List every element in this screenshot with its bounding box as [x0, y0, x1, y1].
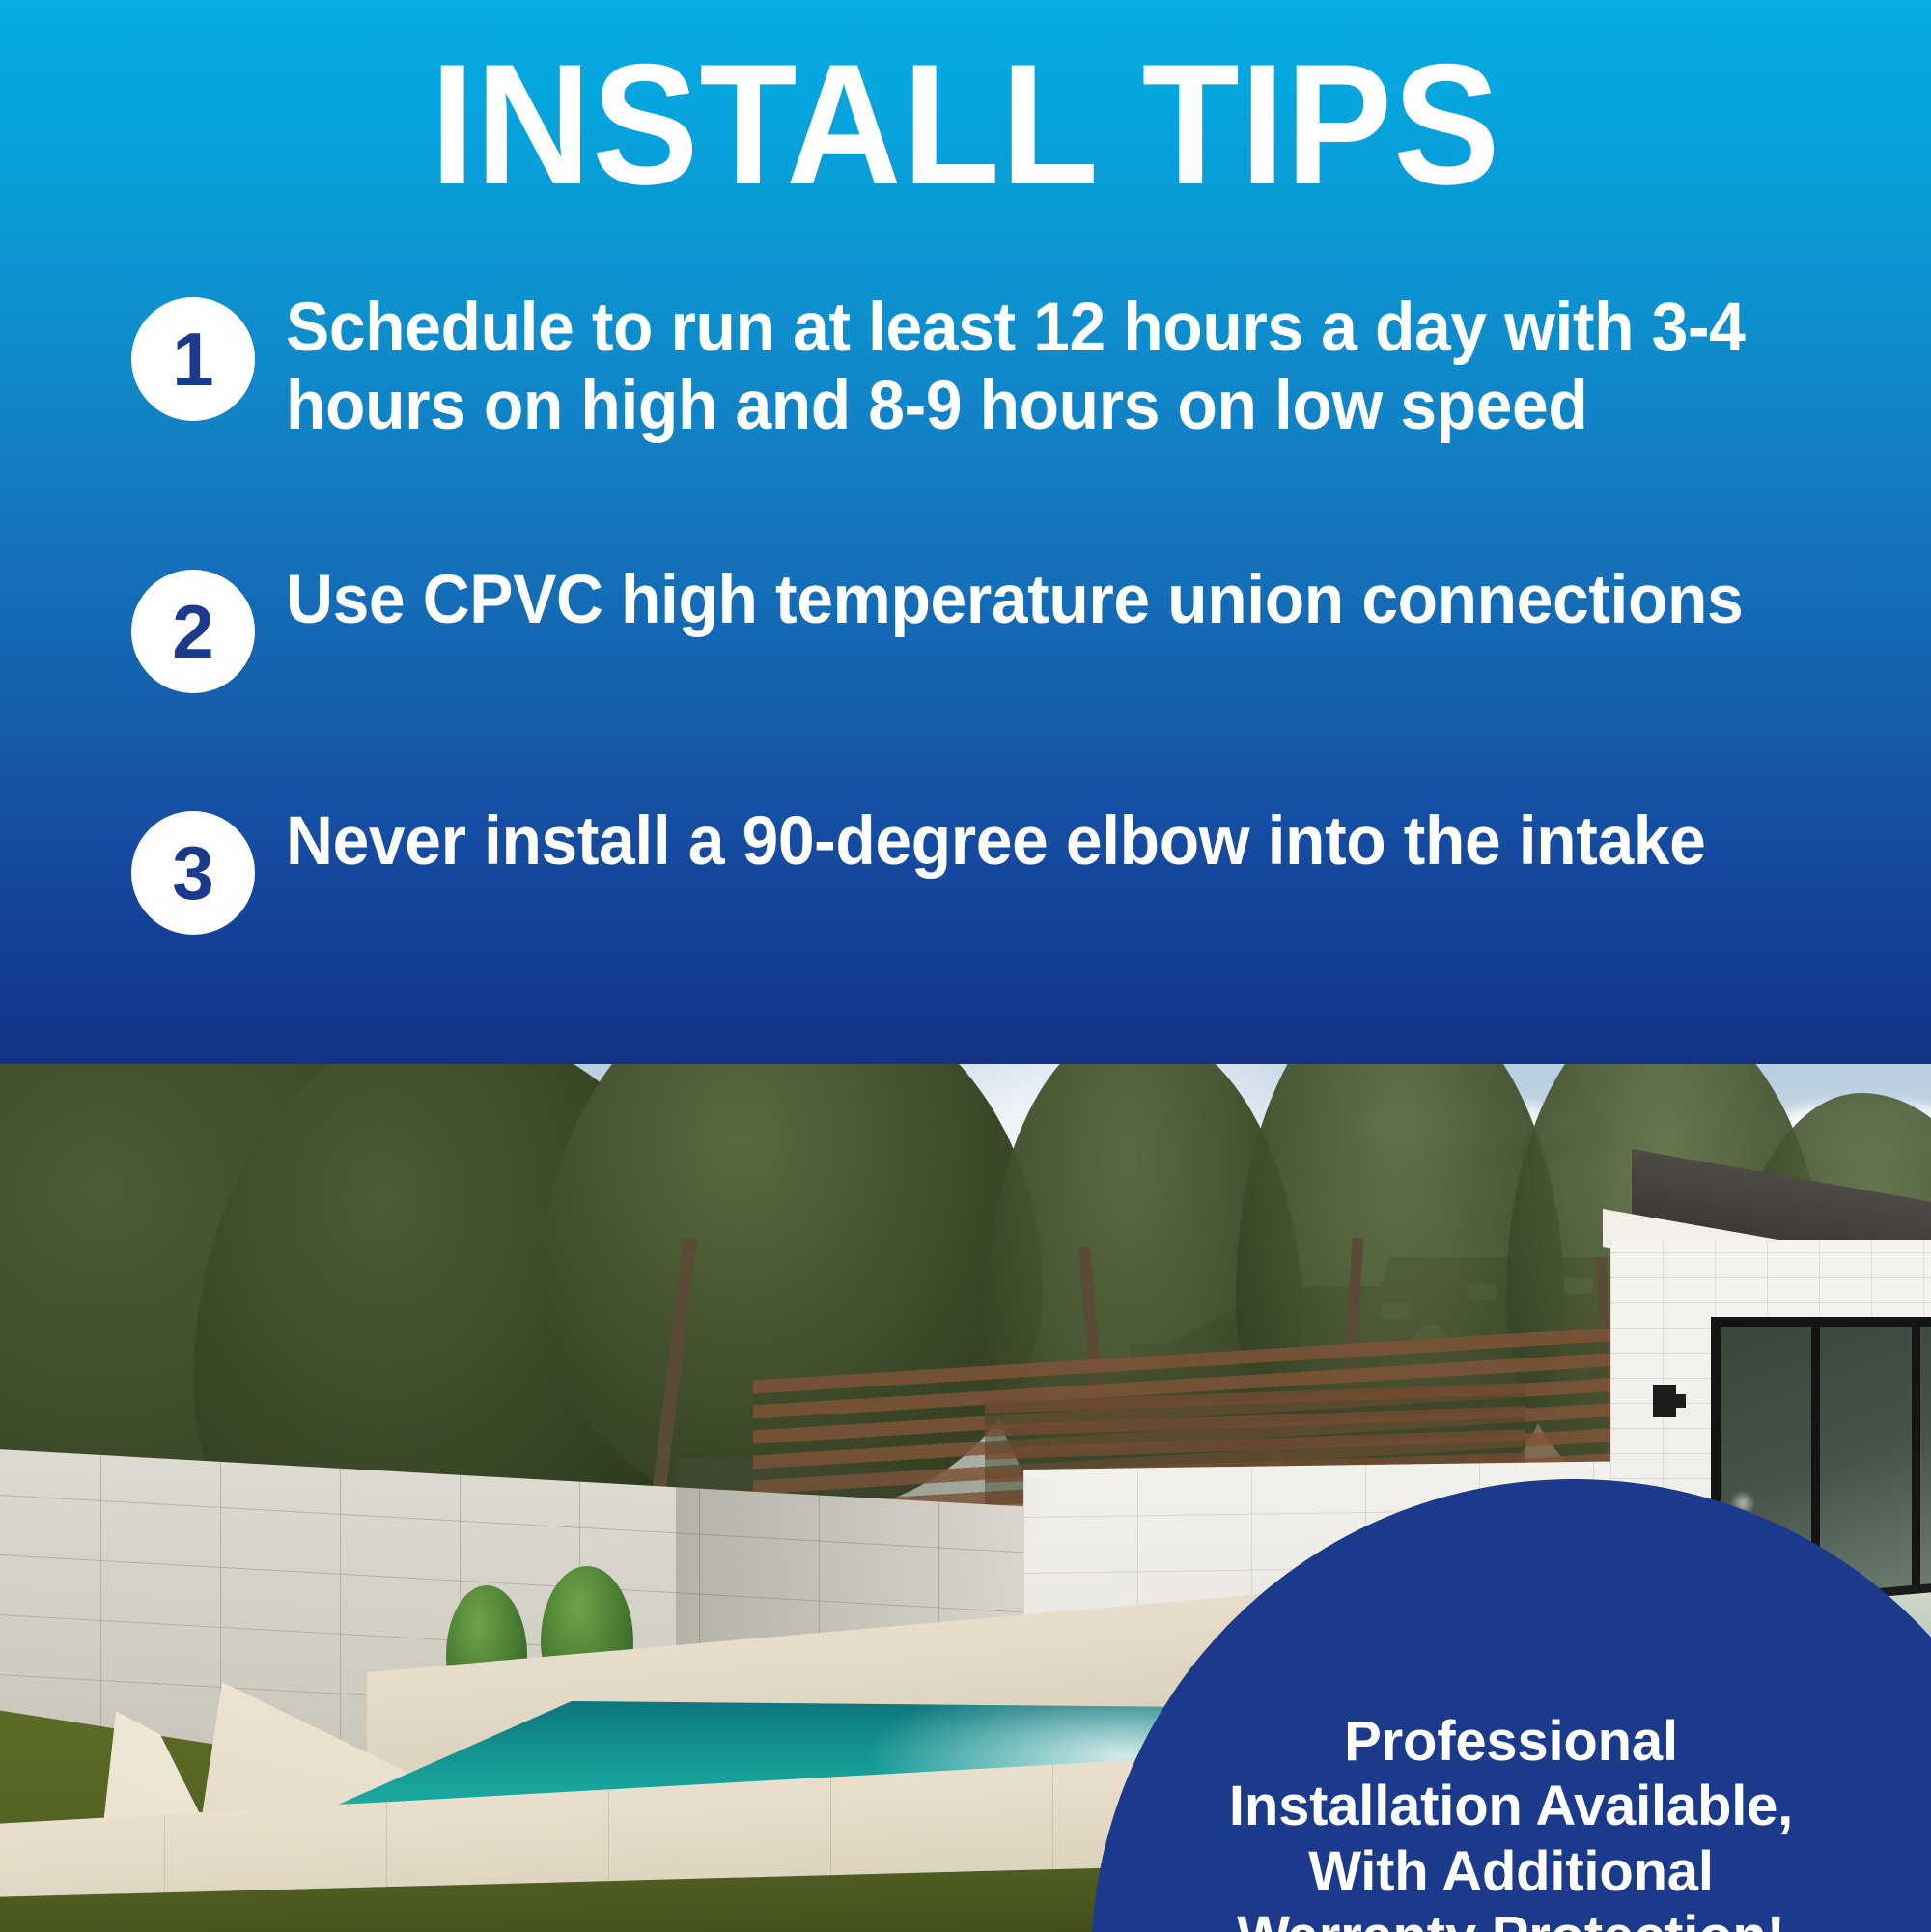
tip-text-3: Never install a 90-degree elbow into the…: [286, 803, 1792, 882]
promo-badge-text: Professional Installation Available, Wit…: [1091, 1709, 1931, 1932]
tip-item-2: 2 Use CPVC high temperature union connec…: [0, 562, 1931, 693]
tip-number-badge-3: 3: [131, 811, 255, 935]
tip-number-badge-1: 1: [131, 297, 255, 421]
page-title: INSTALL TIPS: [68, 39, 1863, 210]
promo-line-2: Installation Available,: [1130, 1774, 1892, 1838]
tip-text-2: Use CPVC high temperature union connecti…: [286, 562, 1792, 640]
promo-line-1: Professional: [1130, 1709, 1892, 1774]
tip-number-badge-2: 2: [131, 570, 255, 693]
tips-panel: INSTALL TIPS 1 Schedule to run at least …: [0, 0, 1931, 1064]
tip-item-3: 3 Never install a 90-degree elbow into t…: [0, 803, 1931, 935]
promo-line-3: With Additional: [1130, 1839, 1892, 1904]
install-tips-poster: INSTALL TIPS 1 Schedule to run at least …: [0, 0, 1931, 1932]
tip-item-1: 1 Schedule to run at least 12 hours a da…: [0, 290, 1931, 446]
wall-lamp: [1653, 1385, 1676, 1417]
promo-line-4: Warranty Protection!: [1130, 1904, 1892, 1932]
tip-text-1: Schedule to run at least 12 hours a day …: [286, 290, 1792, 446]
